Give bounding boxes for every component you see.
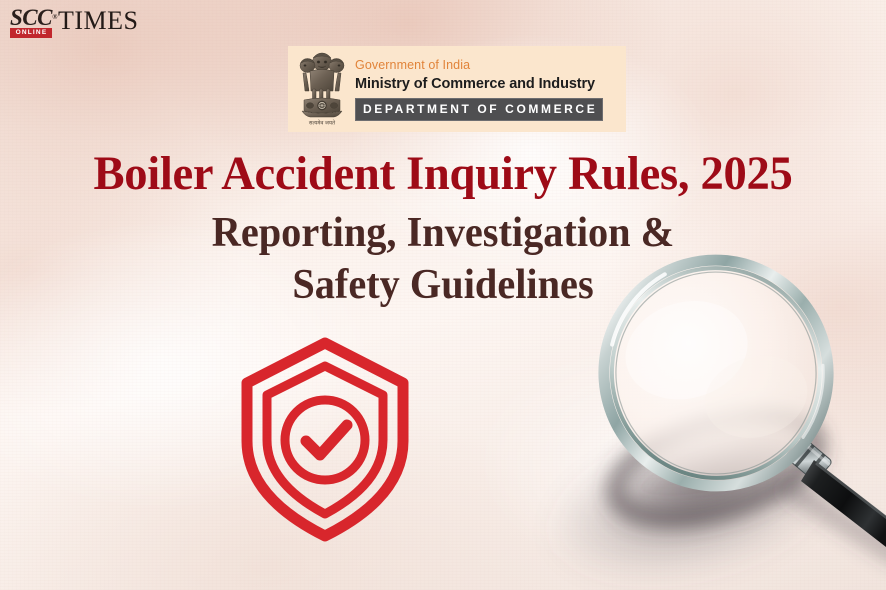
department-of-commerce-badge: DEPARTMENT OF COMMERCE xyxy=(355,98,603,121)
check-mark-icon xyxy=(306,425,347,455)
government-card-text: Government of India Ministry of Commerce… xyxy=(355,57,620,121)
page-subtitle-line-1: Reporting, Investigation & xyxy=(18,207,869,259)
scc-wordmark-text: SCC xyxy=(10,5,52,30)
emblem-motto-text: सत्यमेव जयते xyxy=(309,120,336,127)
trademark-icon: ® xyxy=(52,7,57,28)
shield-check-circle xyxy=(285,400,365,480)
ashoka-emblem-icon: सत्यमेव जयते xyxy=(295,50,349,128)
scc-wordmark: SCC® xyxy=(10,7,52,28)
government-of-india-card: सत्यमेव जयते Government of India Ministr… xyxy=(288,46,626,132)
online-badge: ONLINE xyxy=(10,28,52,38)
page-subtitle-line-2: Safety Guidelines xyxy=(18,259,869,311)
times-wordmark: TIMES xyxy=(58,8,139,34)
shield-check-icon xyxy=(240,337,410,542)
government-of-india-label: Government of India xyxy=(355,57,620,73)
banner-root: SCC® ONLINE TIMES xyxy=(0,0,886,590)
page-title: Boiler Accident Inquiry Rules, 2025 xyxy=(13,146,872,202)
ministry-label: Ministry of Commerce and Industry xyxy=(355,74,620,94)
headline-block: Boiler Accident Inquiry Rules, 2025 Repo… xyxy=(0,146,886,311)
scc-logo-mark: SCC® ONLINE xyxy=(10,7,52,38)
page-subtitle: Reporting, Investigation & Safety Guidel… xyxy=(18,207,869,311)
scc-times-logo[interactable]: SCC® ONLINE TIMES xyxy=(10,7,138,38)
